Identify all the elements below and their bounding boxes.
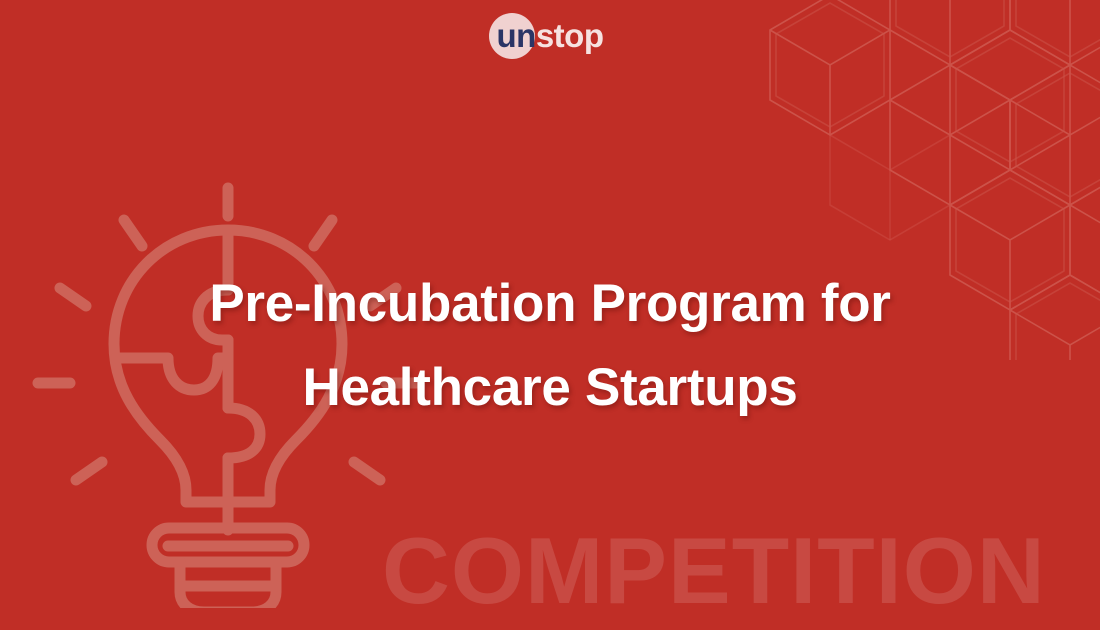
page-title-line-2: Healthcare Startups: [70, 346, 1030, 430]
competition-watermark: COMPETITION: [382, 524, 1046, 618]
page-title: Pre-Incubation Program for Healthcare St…: [0, 262, 1100, 430]
page-title-line-1: Pre-Incubation Program for: [70, 262, 1030, 346]
logo-text-stop: stop: [536, 14, 604, 58]
competition-banner: COMPETITION un stop Pre-Incubation Progr…: [0, 0, 1100, 630]
unstop-logo[interactable]: un stop: [0, 14, 1100, 58]
logo-text-un: un: [497, 14, 536, 58]
